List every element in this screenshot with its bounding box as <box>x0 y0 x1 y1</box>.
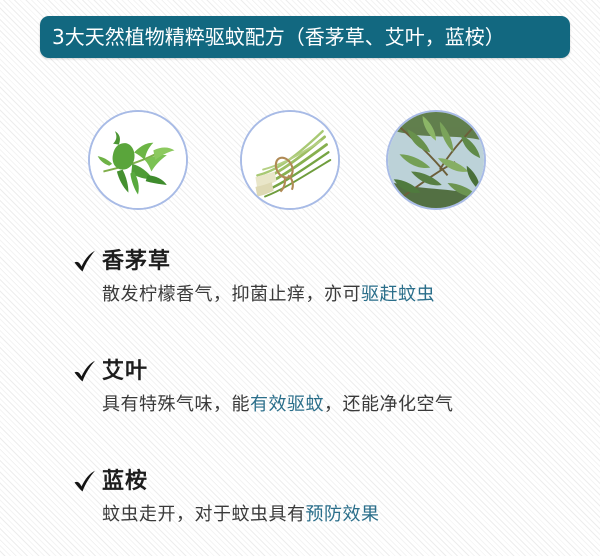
ingredient-image-row <box>0 110 600 214</box>
description-highlight: 驱赶蚊虫 <box>361 284 435 305</box>
header-banner: 3大天然植物精粹驱蚊配方（香茅草、艾叶，蓝桉） <box>40 16 570 58</box>
ingredient-image-eucalyptus-branches <box>386 110 486 210</box>
ingredient-item-3-description: 蚊虫走开，对于蚊虫具有预防效果 <box>102 503 582 527</box>
ingredient-item-1-description: 散发柠檬香气，抑菌止痒，亦可驱赶蚊虫 <box>102 283 582 307</box>
ingredient-item-2-description: 具有特殊气味，能有效驱蚊，还能净化空气 <box>102 393 582 417</box>
ingredient-image-mugwort-leaf <box>88 110 188 210</box>
ingredient-item-1: 香茅草 散发柠檬香气，抑菌止痒，亦可驱赶蚊虫 <box>72 248 582 307</box>
ingredient-item-3: 蓝桉 蚊虫走开，对于蚊虫具有预防效果 <box>72 468 582 527</box>
check-icon <box>72 360 98 384</box>
ingredient-item-3-title: 蓝桉 <box>102 470 148 494</box>
mugwort-leaf-icon <box>90 112 186 208</box>
description-highlight: 预防效果 <box>306 504 380 525</box>
description-prefix: 具有特殊气味，能 <box>102 394 250 415</box>
description-highlight: 有效驱蚊 <box>250 394 324 415</box>
promo-page: 3大天然植物精粹驱蚊配方（香茅草、艾叶，蓝桉） <box>0 0 600 556</box>
ingredient-item-2-head: 艾叶 <box>72 358 582 386</box>
lemongrass-bundle-icon <box>242 112 338 208</box>
description-prefix: 散发柠檬香气，抑菌止痒，亦可 <box>102 284 361 305</box>
description-prefix: 蚊虫走开，对于蚊虫具有 <box>102 504 306 525</box>
ingredient-item-3-head: 蓝桉 <box>72 468 582 496</box>
eucalyptus-branches-icon <box>388 112 484 208</box>
description-suffix: ，还能净化空气 <box>324 394 454 415</box>
ingredient-image-lemongrass-bundle <box>240 110 340 210</box>
ingredient-item-1-head: 香茅草 <box>72 248 582 276</box>
ingredient-item-1-title: 香茅草 <box>102 250 171 274</box>
check-icon <box>72 250 98 274</box>
ingredient-item-2-title: 艾叶 <box>102 360 148 384</box>
check-icon <box>72 470 98 494</box>
page-title: 3大天然植物精粹驱蚊配方（香茅草、艾叶，蓝桉） <box>52 27 505 47</box>
ingredient-item-2: 艾叶 具有特殊气味，能有效驱蚊，还能净化空气 <box>72 358 582 417</box>
